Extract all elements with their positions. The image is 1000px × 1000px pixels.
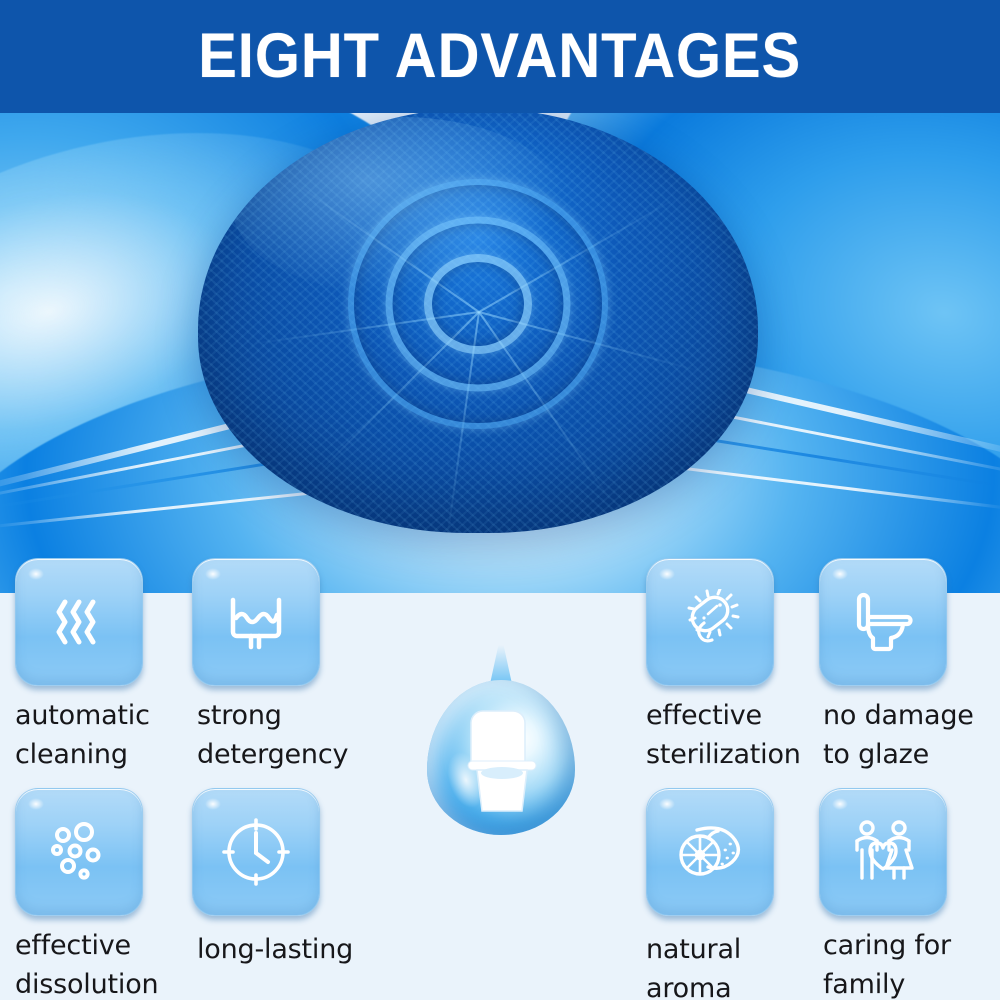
- page-title: EIGHT ADVANTAGES: [199, 25, 802, 88]
- feature-tile[interactable]: [15, 788, 143, 916]
- toilet-icon: [850, 589, 916, 655]
- caption-line: caring for: [823, 926, 989, 965]
- product-infographic: EIGHT ADVANTAGES: [0, 0, 1000, 1000]
- feature-strong-detergency[interactable]: strong detergency: [192, 558, 362, 774]
- header-banner: EIGHT ADVANTAGES: [0, 0, 1000, 113]
- caption-line: cleaning: [15, 735, 185, 774]
- feature-caption: caring for family: [823, 926, 989, 1000]
- caption-line: effective: [15, 926, 185, 965]
- caption-line: dissolution: [15, 965, 185, 1000]
- clock-icon: [220, 816, 292, 888]
- feature-automatic-cleaning[interactable]: automatic cleaning: [15, 558, 185, 774]
- feature-tile[interactable]: [192, 558, 320, 686]
- feature-effective-sterilization[interactable]: effective sterilization: [646, 558, 816, 774]
- caption-line: aroma: [646, 969, 816, 1000]
- feature-caption: effective dissolution: [15, 926, 185, 1000]
- feature-effective-dissolution[interactable]: effective dissolution: [15, 788, 185, 1000]
- caption-line: family: [823, 965, 989, 1000]
- caption-line: strong: [197, 696, 362, 735]
- feature-caption: strong detergency: [197, 696, 362, 774]
- feature-caring-for-family[interactable]: caring for family: [819, 788, 989, 1000]
- feature-tile[interactable]: [819, 558, 947, 686]
- caption-line: long-lasting: [197, 930, 362, 969]
- toilet-illustration-icon: [467, 709, 537, 813]
- caption-line: effective: [646, 696, 816, 735]
- family-heart-icon: [849, 819, 917, 885]
- caption-line: no damage: [823, 696, 989, 735]
- feature-caption: natural aroma: [646, 930, 816, 1000]
- caption-line: automatic: [15, 696, 185, 735]
- feature-no-damage-to-glaze[interactable]: no damage to glaze: [819, 558, 989, 774]
- caption-line: sterilization: [646, 735, 816, 774]
- feature-long-lasting[interactable]: long-lasting: [192, 788, 362, 969]
- water-droplet: [427, 645, 575, 835]
- feature-tile[interactable]: [192, 788, 320, 916]
- caption-line: natural: [646, 930, 816, 969]
- feature-caption: automatic cleaning: [15, 696, 185, 774]
- bubbles-icon: [46, 819, 112, 885]
- water-tank-icon: [223, 590, 289, 654]
- hero-image: [0, 113, 1000, 593]
- product-photo: [198, 113, 758, 533]
- feature-tile[interactable]: [819, 788, 947, 916]
- water-waves-icon: [47, 590, 111, 654]
- feature-natural-aroma[interactable]: natural aroma: [646, 788, 816, 1000]
- feature-tile[interactable]: [15, 558, 143, 686]
- caption-line: to glaze: [823, 735, 989, 774]
- bacteria-icon: [677, 589, 743, 655]
- feature-tile[interactable]: [646, 788, 774, 916]
- feature-caption: no damage to glaze: [823, 696, 989, 774]
- feature-caption: long-lasting: [197, 930, 362, 969]
- caption-line: detergency: [197, 735, 362, 774]
- product-gloss: [232, 117, 568, 296]
- feature-caption: effective sterilization: [646, 696, 816, 774]
- feature-tile[interactable]: [646, 558, 774, 686]
- lemon-icon: [675, 820, 745, 884]
